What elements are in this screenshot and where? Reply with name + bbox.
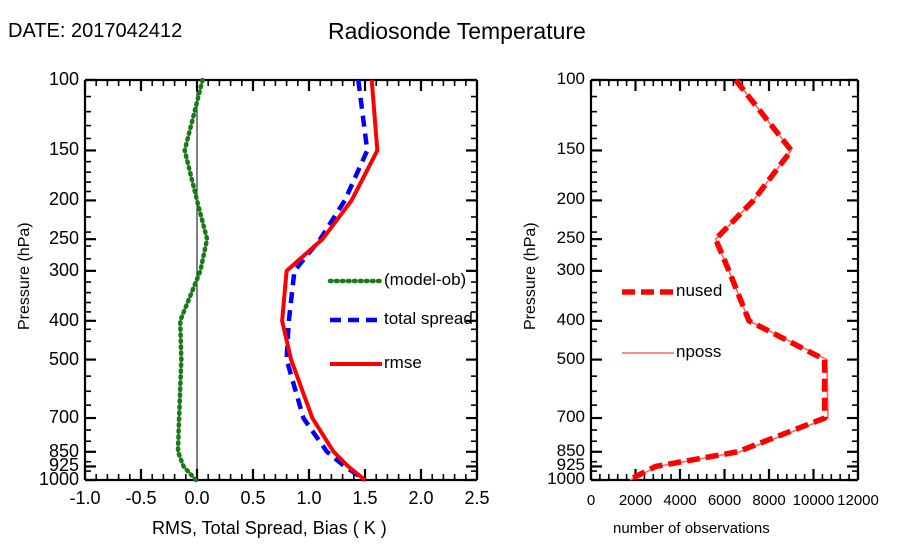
- x-tick-label: 2.5: [437, 488, 517, 509]
- y-tick-label: 150: [529, 139, 585, 159]
- y-tick-label: 300: [23, 260, 79, 281]
- y-tick-label: 400: [23, 310, 79, 331]
- y-tick-label: 700: [23, 407, 79, 428]
- legend-label-totalspread: total spread: [384, 309, 473, 329]
- legend-label-rmse: rmse: [384, 353, 422, 373]
- y-tick-label: 400: [529, 310, 585, 330]
- series-nposs: [630, 80, 828, 480]
- y-tick-label: 700: [529, 407, 585, 427]
- y-tick-label: 1000: [23, 469, 79, 490]
- y-tick-label: 200: [23, 189, 79, 210]
- y-tick-label: 500: [23, 349, 79, 370]
- y-tick-label: 250: [23, 228, 79, 249]
- y-tick-label: 1000: [529, 469, 585, 489]
- y-tick-label: 150: [23, 139, 79, 160]
- legend-label-modelob: (model-ob): [384, 270, 466, 290]
- series-modelob: [178, 80, 207, 480]
- y-tick-label: 100: [529, 69, 585, 89]
- x-tick-label: 12000: [818, 492, 898, 509]
- y-tick-label: 100: [23, 69, 79, 90]
- y-tick-label: 500: [529, 349, 585, 369]
- legend-label-nposs: nposs: [676, 342, 721, 362]
- legend-label-nused: nused: [676, 281, 722, 301]
- series-nused: [629, 80, 825, 480]
- y-tick-label: 300: [529, 260, 585, 280]
- y-tick-label: 250: [529, 228, 585, 248]
- y-tick-label: 200: [529, 189, 585, 209]
- chart-page: DATE: 2017042412 Radiosonde Temperature …: [0, 0, 900, 560]
